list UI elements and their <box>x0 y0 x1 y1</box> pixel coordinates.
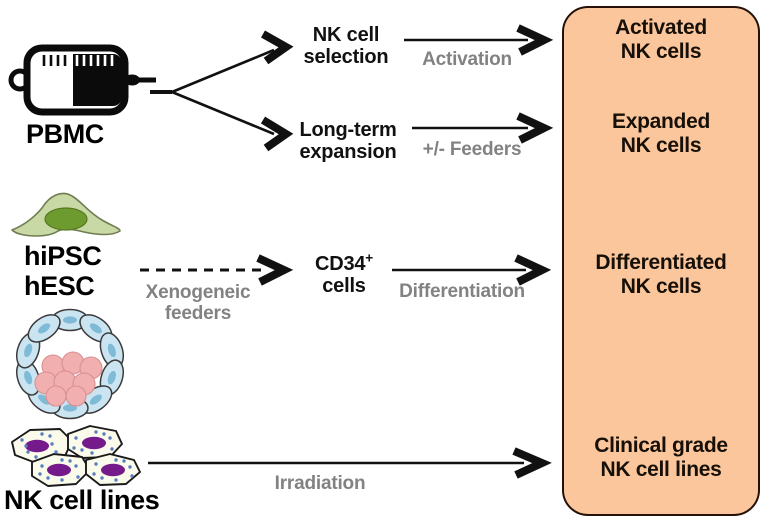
process-label-differentiation: Differentiation <box>386 281 538 302</box>
cd34-second-line: cells <box>322 275 365 297</box>
process-label-feeders: +/- Feeders <box>409 139 535 160</box>
nk-cell-cluster-icon <box>6 424 144 490</box>
diagram-canvas: PBMC NK cell selection Activation Long-t… <box>0 0 765 523</box>
outcome-activated-nk-cells: Activated NK cells <box>566 16 756 63</box>
pbmc-branch-arrows <box>150 30 300 155</box>
process-label-irradiation: Irradiation <box>240 473 400 494</box>
source-label-nk-cell-lines: NK cell lines <box>4 486 194 516</box>
arrow-irradiation <box>148 451 550 475</box>
outcome-clinical-grade-nk-lines: Clinical grade NK cell lines <box>562 434 760 481</box>
blood-bag-icon <box>8 44 158 116</box>
cd34-superscript: + <box>365 250 373 265</box>
intermediate-nk-cell-selection: NK cell selection <box>290 24 402 69</box>
outcome-expanded-nk-cells: Expanded NK cells <box>566 110 756 157</box>
stem-cell-icon <box>8 186 124 242</box>
intermediate-cd34-cells: CD34+ cells <box>296 253 392 298</box>
arrow-feeders <box>412 116 550 140</box>
outcome-differentiated-nk-cells: Differentiated NK cells <box>562 251 760 298</box>
blastocyst-icon <box>8 310 132 418</box>
source-label-pbmc: PBMC <box>26 120 156 150</box>
process-label-xenogeneic-feeders: Xenogeneic feeders <box>133 282 263 325</box>
process-label-activation: Activation <box>404 49 530 70</box>
arrow-differentiation <box>392 258 550 282</box>
intermediate-long-term-expansion: Long-term expansion <box>284 119 412 164</box>
arrow-xenogeneic-feeders <box>140 258 292 282</box>
